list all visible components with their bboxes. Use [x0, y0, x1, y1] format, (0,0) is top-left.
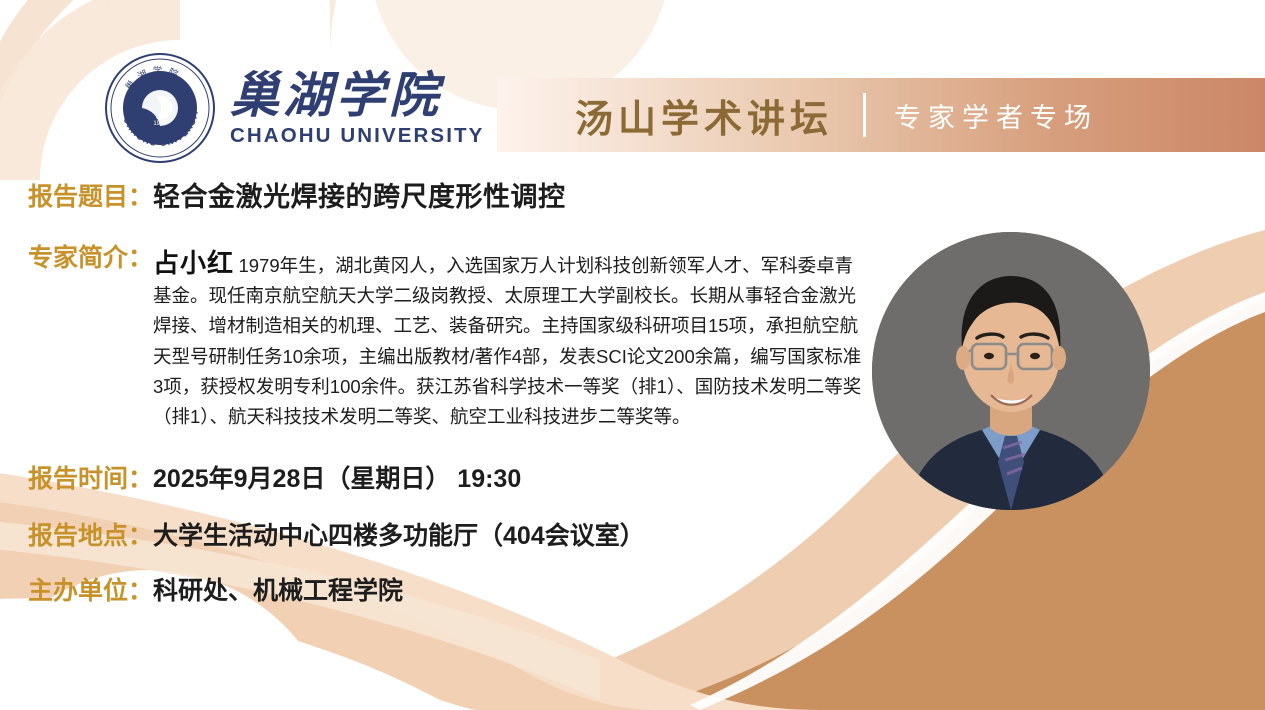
lecture-place-row: 报告地点： 大学生活动中心四楼多功能厅（404会议室） [28, 519, 645, 553]
lecture-host-row: 主办单位： 科研处、机械工程学院 [28, 574, 403, 608]
speaker-bio-row: 专家简介： 占小红 1979年生，湖北黄冈人，入选国家万人计划科技创新领军人才、… [28, 243, 878, 432]
svg-text:1977: 1977 [153, 121, 167, 127]
lecture-place-label: 报告地点： [28, 519, 153, 553]
lecture-time-row: 报告时间： 2025年9月28日（星期日） 19:30 [28, 462, 521, 496]
lecture-title-label: 报告题目： [28, 180, 153, 214]
lecture-title-value: 轻合金激光焊接的跨尺度形性调控 [153, 180, 566, 214]
forum-subtitle: 专家学者专场 [894, 96, 1098, 135]
lecture-time-label: 报告时间： [28, 462, 153, 496]
lecture-place-value: 大学生活动中心四楼多功能厅（404会议室） [153, 519, 645, 553]
logo-chinese-name: 巢湖学院 [230, 70, 484, 121]
speaker-name: 占小红 [153, 248, 234, 278]
speaker-bio-label: 专家简介： [28, 243, 153, 273]
forum-banner: 汤山学术讲坛 专家学者专场 [497, 78, 1265, 152]
speaker-bio-text: 1979年生，湖北黄冈人，入选国家万人计划科技创新领军人才、军科委卓青基金。现任… [153, 255, 861, 427]
lecture-poster: 1977 巢湖学院 CHAOHU UNIVERSITY 巢湖学院 CHAOHU … [0, 0, 1265, 710]
poster-header: 1977 巢湖学院 CHAOHU UNIVERSITY 巢湖学院 CHAOHU … [0, 0, 1265, 158]
lecture-host-label: 主办单位： [28, 574, 153, 608]
speaker-portrait [872, 232, 1150, 510]
lecture-title-row: 报告题目： 轻合金激光焊接的跨尺度形性调控 [28, 180, 566, 214]
lecture-time-value: 2025年9月28日（星期日） 19:30 [153, 462, 521, 496]
banner-divider [863, 93, 866, 137]
lecture-host-value: 科研处、机械工程学院 [153, 574, 403, 608]
university-logo: 1977 巢湖学院 CHAOHU UNIVERSITY 巢湖学院 CHAOHU … [104, 52, 484, 164]
forum-title: 汤山学术讲坛 [575, 88, 833, 143]
university-seal-icon: 1977 巢湖学院 CHAOHU UNIVERSITY [104, 52, 216, 164]
speaker-bio-body: 占小红 1979年生，湖北黄冈人，入选国家万人计划科技创新领军人才、军科委卓青基… [153, 243, 865, 432]
logo-english-name: CHAOHU UNIVERSITY [230, 124, 484, 148]
